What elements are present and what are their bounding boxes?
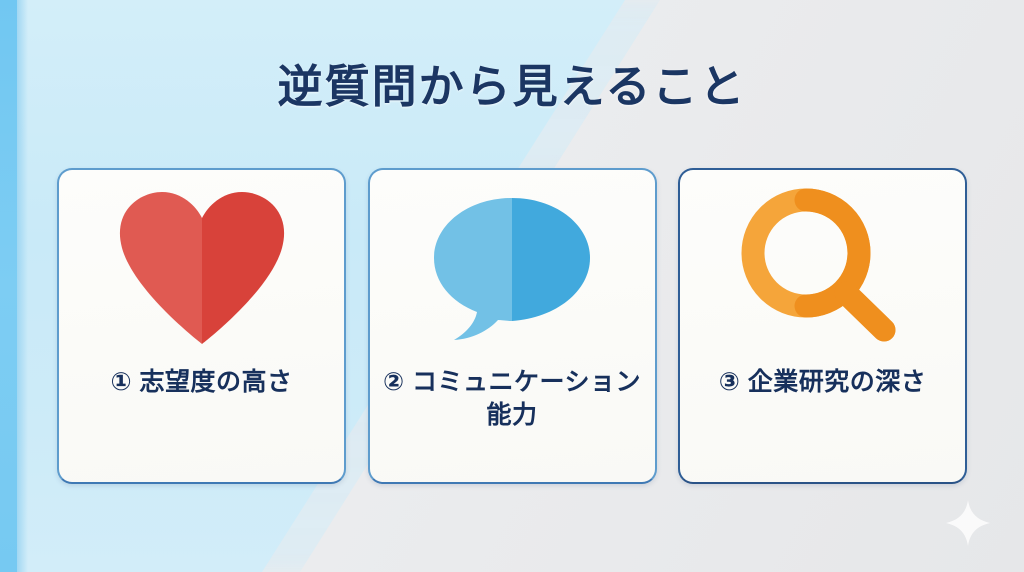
- card-1-label: ① 志望度の高さ: [71, 366, 333, 399]
- card-communication[interactable]: ② コミュニケーション 能力: [368, 168, 657, 484]
- page-title: 逆質問から見えること: [0, 50, 1024, 115]
- card-2-label-line1: ② コミュニケーション: [381, 366, 643, 399]
- sparkle-icon: [946, 500, 990, 546]
- slide-canvas: 逆質問から見えること ① 志望度の高さ ② コミ: [0, 0, 1024, 572]
- card-1-label-line1: ① 志望度の高さ: [71, 366, 333, 399]
- card-3-icon-slot: [680, 170, 965, 366]
- magnifying-glass-icon: [739, 188, 907, 348]
- card-1-icon-slot: [59, 170, 344, 366]
- card-shibouodo[interactable]: ① 志望度の高さ: [57, 168, 346, 484]
- heart-icon: [118, 192, 286, 344]
- card-kigyokenkyu[interactable]: ③ 企業研究の深さ: [678, 168, 967, 484]
- speech-bubble-icon: [428, 192, 596, 344]
- card-3-label-line1: ③ 企業研究の深さ: [692, 366, 954, 399]
- card-2-icon-slot: [370, 170, 655, 366]
- card-3-label: ③ 企業研究の深さ: [692, 366, 954, 399]
- card-row: ① 志望度の高さ ② コミュニケーション 能力: [57, 168, 967, 484]
- card-2-label-line2: 能力: [381, 399, 643, 432]
- card-2-label: ② コミュニケーション 能力: [381, 366, 643, 432]
